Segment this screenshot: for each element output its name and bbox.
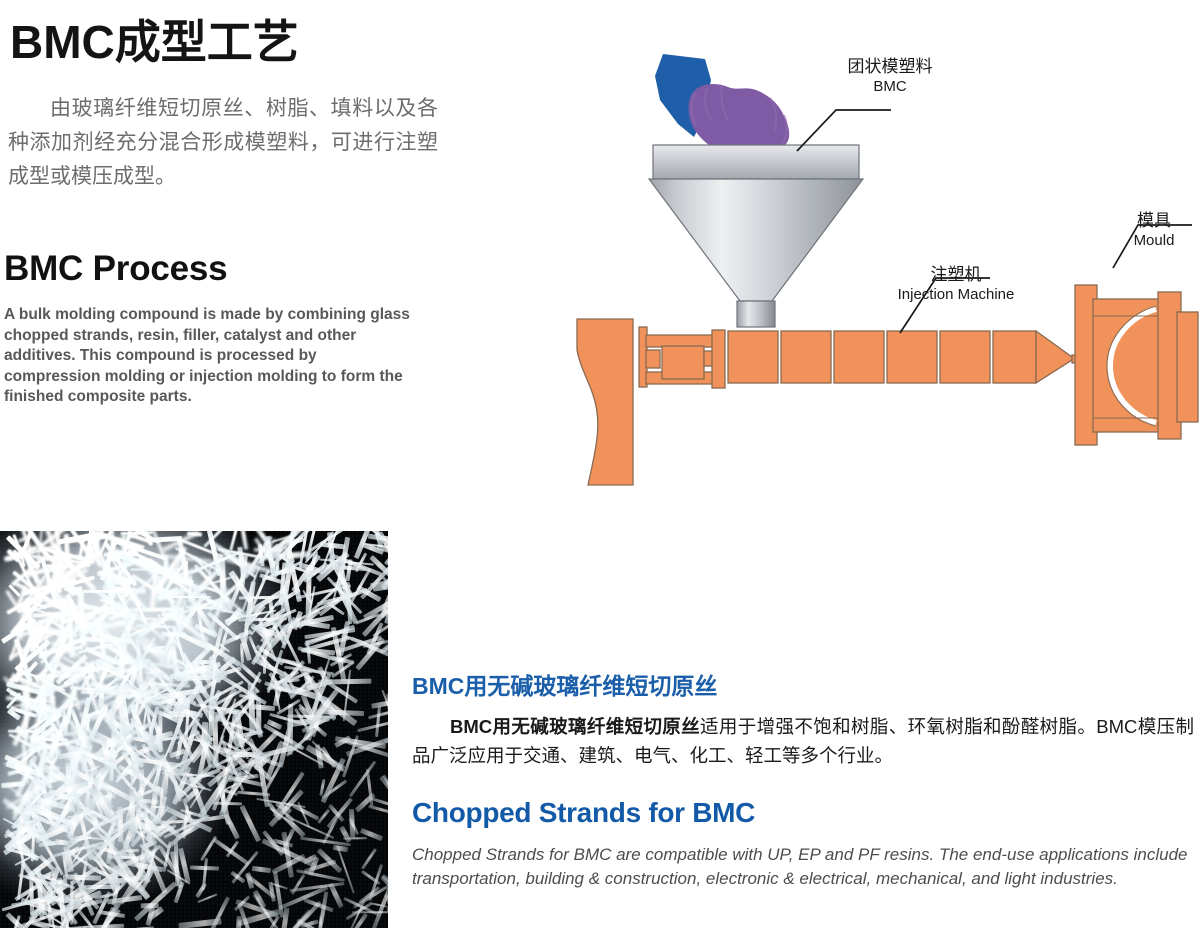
page-title-cn: BMC成型工艺	[10, 14, 440, 70]
page-title-en: BMC Process	[4, 248, 434, 290]
barrel-segment-3	[834, 331, 884, 383]
label-injection-machine-cn: 注塑机	[876, 264, 1036, 285]
label-injection-machine: 注塑机 Injection Machine	[876, 264, 1036, 304]
intro-paragraph-cn: 由玻璃纤维短切原丝、树脂、填料以及各种添加剂经充分混合形成模塑料，可进行注塑成型…	[8, 92, 438, 194]
section-heading-cn: BMC用无碱玻璃纤维短切原丝	[412, 670, 1192, 702]
label-mould: 模具 Mould	[1108, 210, 1200, 250]
hopper-cone	[649, 179, 863, 301]
barrel-segment-5	[940, 331, 990, 383]
section-body-cn-bold: BMC用无碱玻璃纤维短切原丝	[450, 716, 700, 737]
section-body-cn: BMC用无碱玻璃纤维短切原丝适用于增强不饱和树脂、环氧树脂和酚醛树脂。BMC模压…	[412, 712, 1194, 770]
hopper-collar	[653, 145, 859, 179]
machine-drive-box	[662, 346, 704, 379]
label-mould-en: Mould	[1108, 231, 1200, 250]
section-heading-en: Chopped Strands for BMC	[412, 795, 1192, 831]
intro-paragraph-en: A bulk molding compound is made by combi…	[4, 305, 416, 408]
label-bmc-en: BMC	[790, 77, 990, 96]
mould-outer-platen	[1177, 312, 1198, 422]
barrel-segment-4	[887, 331, 937, 383]
label-bmc: 团状模塑料 BMC	[790, 56, 990, 96]
label-mould-cn: 模具	[1108, 210, 1200, 231]
barrel-segment-1	[728, 331, 778, 383]
label-injection-machine-en: Injection Machine	[876, 285, 1036, 304]
machine-left-nub	[646, 350, 660, 368]
chopped-strands-photo	[0, 531, 388, 928]
hopper-spout	[737, 301, 775, 327]
barrel-segment-6	[993, 331, 1036, 383]
machine-upper-arm	[646, 335, 713, 347]
barrel-segment-2	[781, 331, 831, 383]
machine-column	[712, 330, 725, 388]
section-body-en: Chopped Strands for BMC are compatible w…	[412, 843, 1200, 891]
mould-assembly	[1075, 285, 1198, 445]
machine-nozzle-cone	[1036, 331, 1072, 383]
label-bmc-cn: 团状模塑料	[790, 56, 990, 77]
machine-rear-base	[577, 319, 633, 485]
injection-machine-body	[577, 319, 1094, 485]
